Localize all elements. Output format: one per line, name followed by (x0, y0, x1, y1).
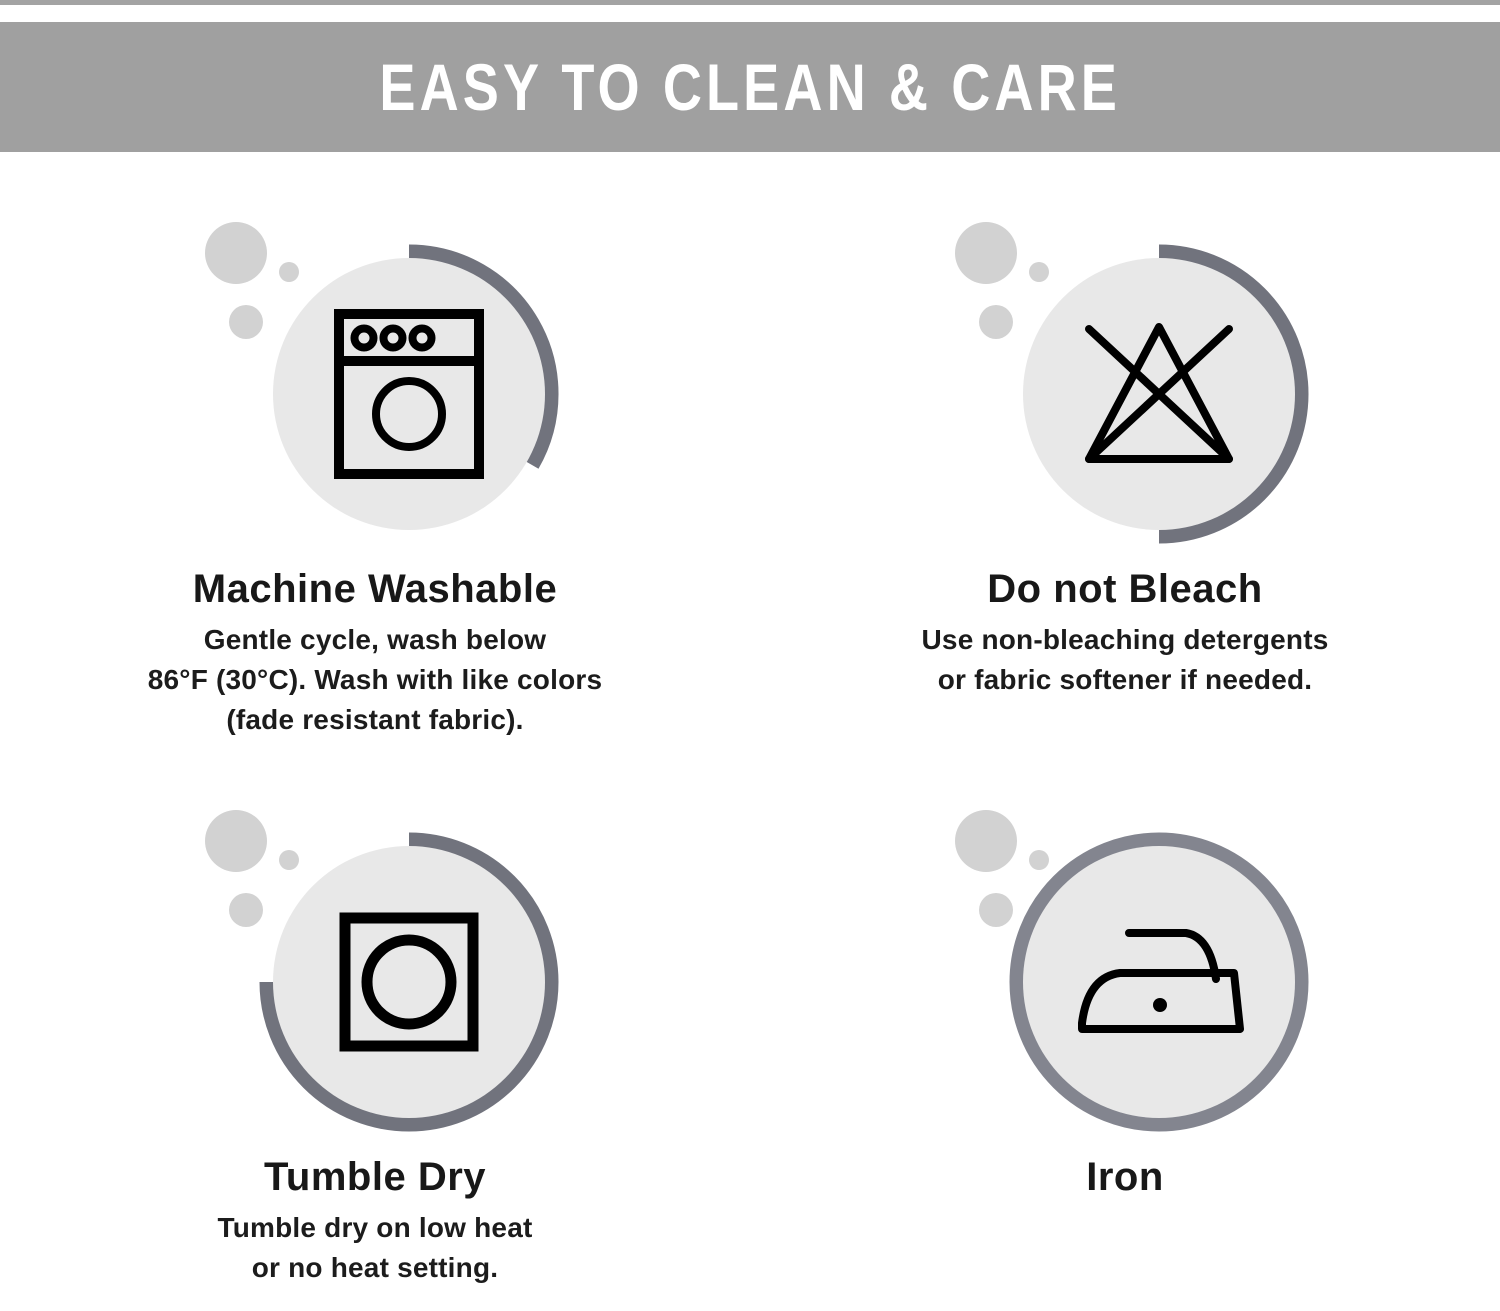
card-caption: Machine Washable Gentle cycle, wash belo… (0, 566, 750, 739)
banner: EASY TO CLEAN & CARE (0, 22, 1500, 152)
card-caption: Do not Bleach Use non-bleaching detergen… (750, 566, 1500, 700)
icon-stack (945, 800, 1305, 1150)
bubble-medium-icon (229, 893, 263, 927)
page-title: EASY TO CLEAN & CARE (379, 54, 1121, 120)
top-divider (0, 0, 1500, 5)
no-bleach-triangle-icon (1023, 258, 1295, 530)
icon-stack (945, 212, 1305, 562)
bubble-large-icon (955, 810, 1017, 872)
care-card-do-not-bleach: Do not Bleach Use non-bleaching detergen… (750, 212, 1500, 700)
bubble-medium-icon (979, 893, 1013, 927)
card-body: Gentle cycle, wash below 86°F (30°C). Wa… (0, 620, 750, 739)
card-body: Tumble dry on low heat or no heat settin… (0, 1208, 750, 1288)
tumble-dry-icon (273, 846, 545, 1118)
icon-stack (195, 800, 555, 1150)
iron-icon (1023, 846, 1295, 1118)
icon-zone (750, 800, 1500, 1150)
care-card-tumble-dry: Tumble Dry Tumble dry on low heat or no … (0, 800, 750, 1288)
washing-machine-icon (273, 258, 545, 530)
care-card-iron: Iron (750, 800, 1500, 1200)
icon-zone (0, 800, 750, 1150)
bubble-large-icon (205, 810, 267, 872)
card-title: Do not Bleach (750, 566, 1500, 612)
care-card-grid: Machine Washable Gentle cycle, wash belo… (0, 152, 1500, 1311)
icon-zone (0, 212, 750, 562)
card-caption: Iron (750, 1154, 1500, 1200)
care-card-machine-washable: Machine Washable Gentle cycle, wash belo… (0, 212, 750, 739)
card-title: Tumble Dry (0, 1154, 750, 1200)
card-body: Use non-bleaching detergents or fabric s… (750, 620, 1500, 700)
card-caption: Tumble Dry Tumble dry on low heat or no … (0, 1154, 750, 1288)
bubble-large-icon (955, 222, 1017, 284)
care-instructions-page: EASY TO CLEAN & CARE (0, 0, 1500, 1311)
icon-stack (195, 212, 555, 562)
bubble-medium-icon (979, 305, 1013, 339)
bubble-large-icon (205, 222, 267, 284)
icon-zone (750, 212, 1500, 562)
card-title: Machine Washable (0, 566, 750, 612)
card-title: Iron (750, 1154, 1500, 1200)
bubble-medium-icon (229, 305, 263, 339)
